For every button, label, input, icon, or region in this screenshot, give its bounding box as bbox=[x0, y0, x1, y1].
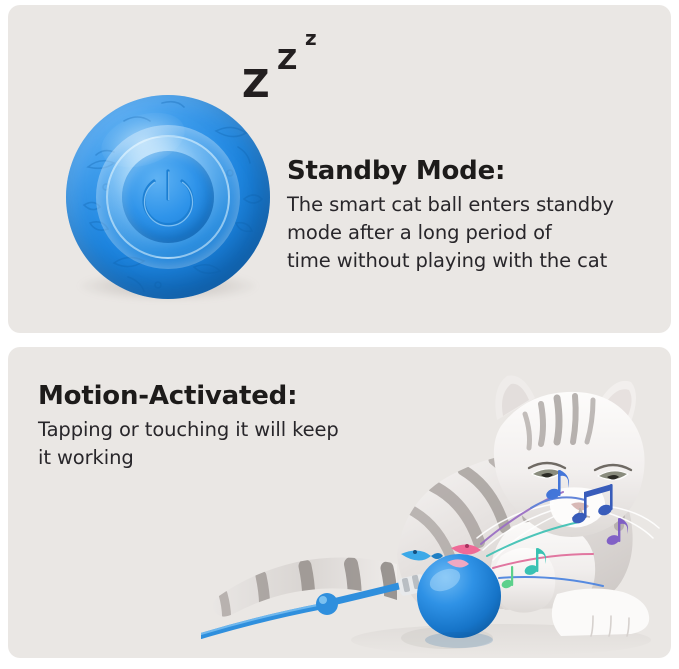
motion-text-block: Motion-Activated: Tapping or touching it… bbox=[38, 382, 398, 472]
standby-heading: Standby Mode: bbox=[287, 157, 657, 185]
smart-cat-ball-image bbox=[60, 93, 276, 309]
infographic-page: Z Z z bbox=[0, 0, 679, 669]
panel-motion-activated: Motion-Activated: Tapping or touching it… bbox=[8, 347, 671, 658]
standby-product-visual: Z Z z bbox=[28, 15, 278, 315]
motion-body: Tapping or touching it will keep it work… bbox=[38, 416, 398, 472]
sleep-z-medium-icon: Z bbox=[277, 46, 297, 74]
motion-heading: Motion-Activated: bbox=[38, 382, 398, 410]
sleep-z-small-icon: z bbox=[305, 28, 317, 48]
panel-standby-mode: Z Z z bbox=[8, 5, 671, 333]
standby-body: The smart cat ball enters standby mode a… bbox=[287, 191, 657, 275]
standby-text-block: Standby Mode: The smart cat ball enters … bbox=[287, 157, 657, 275]
